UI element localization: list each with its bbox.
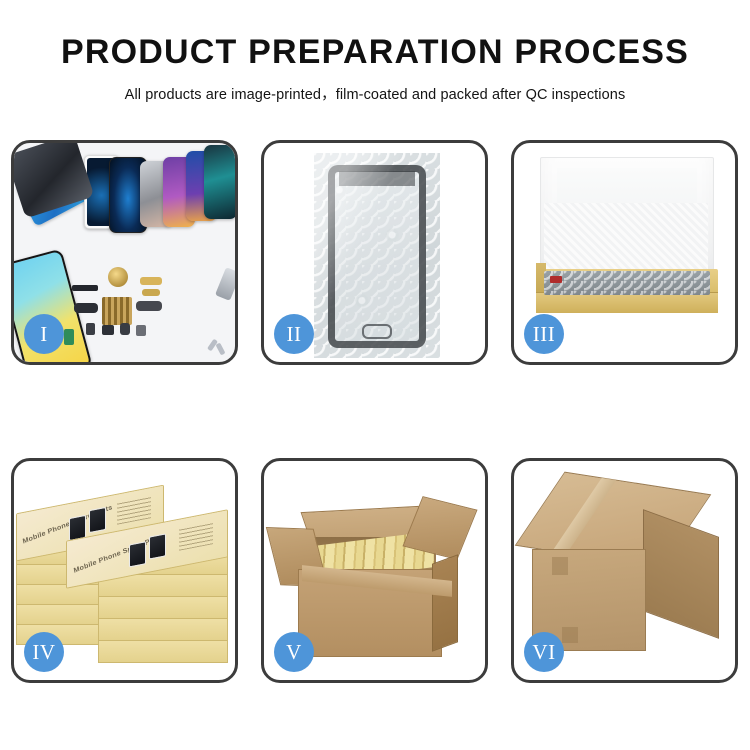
carton-seam-tab-lower: [562, 627, 578, 643]
process-step-panel-1[interactable]: I: [11, 140, 238, 365]
stacked-box-r-4: [98, 617, 228, 641]
repair-tool: [215, 267, 235, 301]
flex-cable-part-a: [140, 277, 162, 285]
small-component-4: [136, 325, 146, 336]
step-badge-3: III: [524, 314, 564, 354]
carton-side-face: [432, 554, 458, 651]
step-badge-5: V: [274, 632, 314, 672]
foam-insert: [544, 203, 708, 275]
step-badge-6: VI: [524, 632, 564, 672]
process-step-grid: I II III: [11, 140, 739, 683]
screw-tray-part: [102, 297, 132, 325]
process-step-panel-5[interactable]: V: [261, 458, 488, 683]
process-step-panel-2[interactable]: II: [261, 140, 488, 365]
page-subtitle: All products are image-printed，film-coat…: [0, 83, 750, 104]
wrapped-screen-in-box: [544, 271, 710, 295]
step-badge-1: I: [24, 314, 64, 354]
sealed-carton-side-face: [643, 509, 719, 639]
small-component-1: [86, 323, 95, 335]
spare-parts-cluster: [72, 271, 192, 361]
process-step-panel-4[interactable]: Mobile Phone Spare Parts Mobile Phone Sp…: [11, 458, 238, 683]
ribbon-cable-left: [74, 303, 98, 313]
process-step-panel-6[interactable]: VI: [511, 458, 738, 683]
plastic-sheen: [314, 153, 440, 358]
kraft-box-front: [536, 292, 718, 313]
connector-strip-part: [72, 285, 98, 291]
phone-back-housing: [14, 143, 94, 219]
page-header: PRODUCT PREPARATION PROCESS All products…: [0, 0, 750, 104]
stacked-box-r-5: [98, 639, 228, 663]
process-step-panel-3[interactable]: III: [511, 140, 738, 365]
box-art-screen-a2: [89, 507, 106, 533]
page-title: PRODUCT PREPARATION PROCESS: [0, 34, 750, 71]
box-art-screen-b2: [149, 533, 166, 559]
carton-seam-tab-upper: [552, 557, 568, 575]
ribbon-cable-right: [136, 301, 162, 311]
phone-teal-screen: [204, 145, 235, 219]
box-art-screen-b1: [129, 541, 146, 567]
battery-component: [64, 329, 74, 345]
small-component-2: [102, 325, 114, 335]
small-component-3: [120, 323, 130, 335]
bubble-wrap-sheet: [314, 153, 440, 358]
step-badge-4: IV: [24, 632, 64, 672]
step-badge-2: II: [274, 314, 314, 354]
flex-cable-part-b: [142, 289, 160, 296]
screw-part-2: [215, 343, 225, 356]
stacked-box-r-3: [98, 595, 228, 619]
coil-part: [108, 267, 128, 287]
